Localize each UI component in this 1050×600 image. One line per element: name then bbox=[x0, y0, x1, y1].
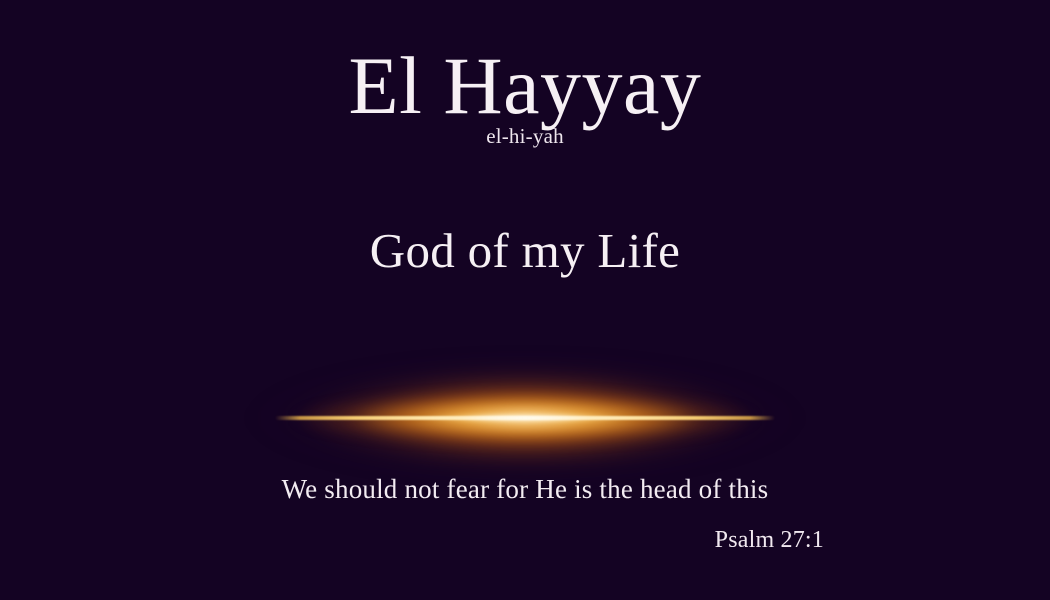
glowing-light-divider bbox=[0, 347, 1050, 489]
glow-core-streak bbox=[275, 416, 775, 420]
presentation-slide: El Hayyay el-hi-yah God of my Life We sh… bbox=[0, 0, 1050, 600]
verse-text: We should not fear for He is the head of… bbox=[0, 474, 1050, 505]
meaning-heading: God of my Life bbox=[0, 222, 1050, 279]
glow-inner-bloom bbox=[290, 391, 760, 445]
title-block: El Hayyay el-hi-yah bbox=[0, 44, 1050, 149]
divine-name-heading: El Hayyay bbox=[0, 44, 1050, 128]
pronunciation-text: el-hi-yah bbox=[0, 124, 1050, 149]
verse-reference: Psalm 27:1 bbox=[0, 527, 824, 554]
glow-hotspot bbox=[420, 414, 630, 423]
glow-outer-bloom bbox=[245, 352, 805, 484]
